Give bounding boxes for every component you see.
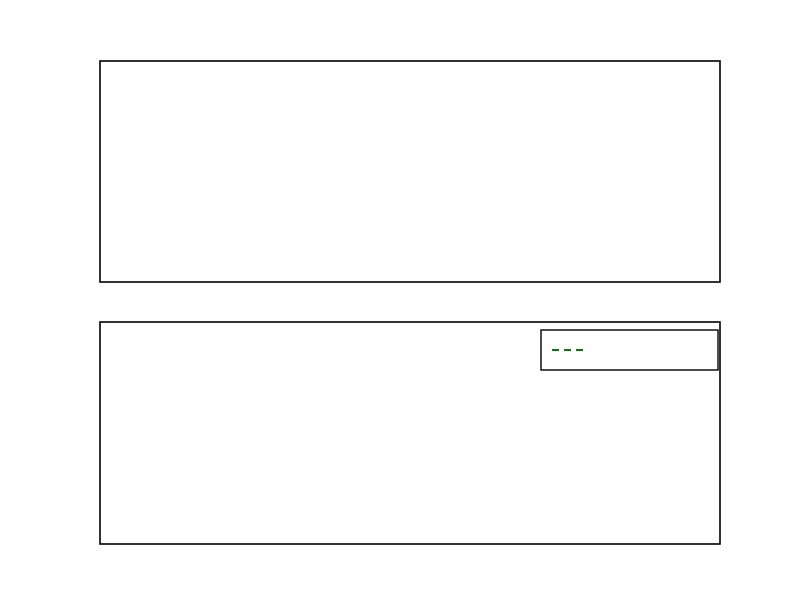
legend[interactable] [541, 330, 718, 370]
top-panel-frame [100, 61, 720, 282]
matplotlib-figure [0, 0, 800, 600]
bottom-panel-axes [0, 0, 720, 544]
figure-canvas [0, 0, 800, 600]
top-panel-axes [100, 61, 720, 282]
